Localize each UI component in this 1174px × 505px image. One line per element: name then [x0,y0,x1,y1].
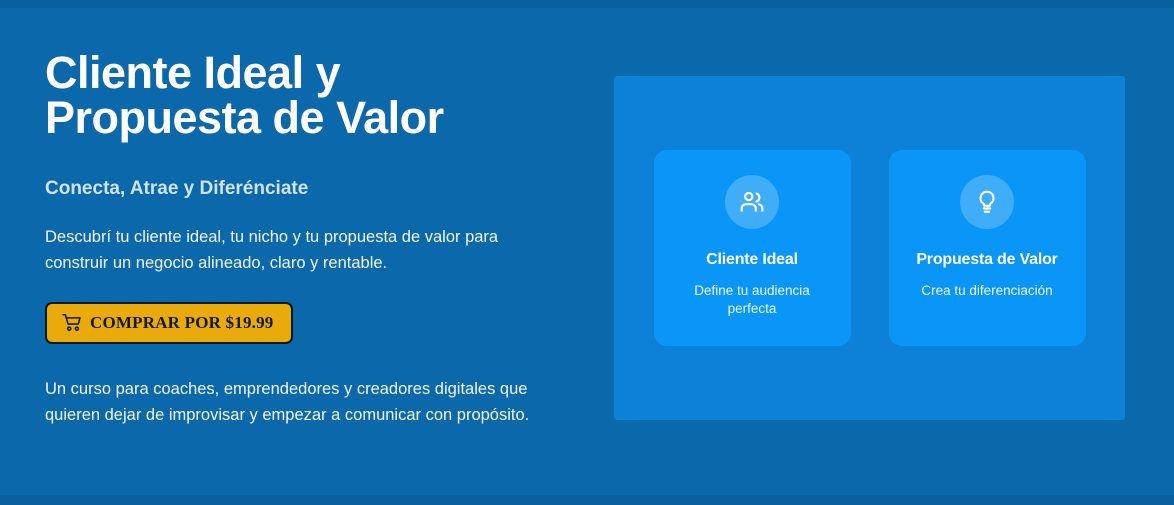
headline-line-2: Propuesta de Valor [45,95,590,140]
subheadline: Conecta, Atrae y Diferénciate [45,178,590,200]
page-title: Cliente Ideal y Propuesta de Valor [45,50,590,140]
cta-container: COMPRAR POR $19.99 [45,302,590,344]
lightbulb-icon [960,175,1014,229]
hero-section: Cliente Ideal y Propuesta de Valor Conec… [0,8,1174,495]
shopping-cart-icon [62,314,81,331]
feature-panel: Cliente Ideal Define tu audiencia perfec… [614,76,1125,420]
feature-card-description: Crea tu diferenciación [921,282,1052,300]
footnote-paragraph: Un curso para coaches, emprendedores y c… [45,376,560,428]
headline-line-1: Cliente Ideal y [45,47,340,98]
feature-card-title: Propuesta de Valor [916,251,1057,269]
bottom-accent-band [0,495,1174,505]
feature-card-cliente-ideal[interactable]: Cliente Ideal Define tu audiencia perfec… [654,150,851,346]
users-icon [725,175,779,229]
top-accent-band [0,0,1174,8]
buy-now-label: COMPRAR POR $19.99 [90,314,274,331]
hero-text-column: Cliente Ideal y Propuesta de Valor Conec… [45,50,590,428]
feature-card-propuesta-de-valor[interactable]: Propuesta de Valor Crea tu diferenciació… [889,150,1086,346]
feature-card-title: Cliente Ideal [706,251,798,269]
lead-paragraph: Descubrí tu cliente ideal, tu nicho y tu… [45,225,565,276]
feature-card-description: Define tu audiencia perfecta [677,282,827,318]
buy-now-button[interactable]: COMPRAR POR $19.99 [45,302,293,344]
